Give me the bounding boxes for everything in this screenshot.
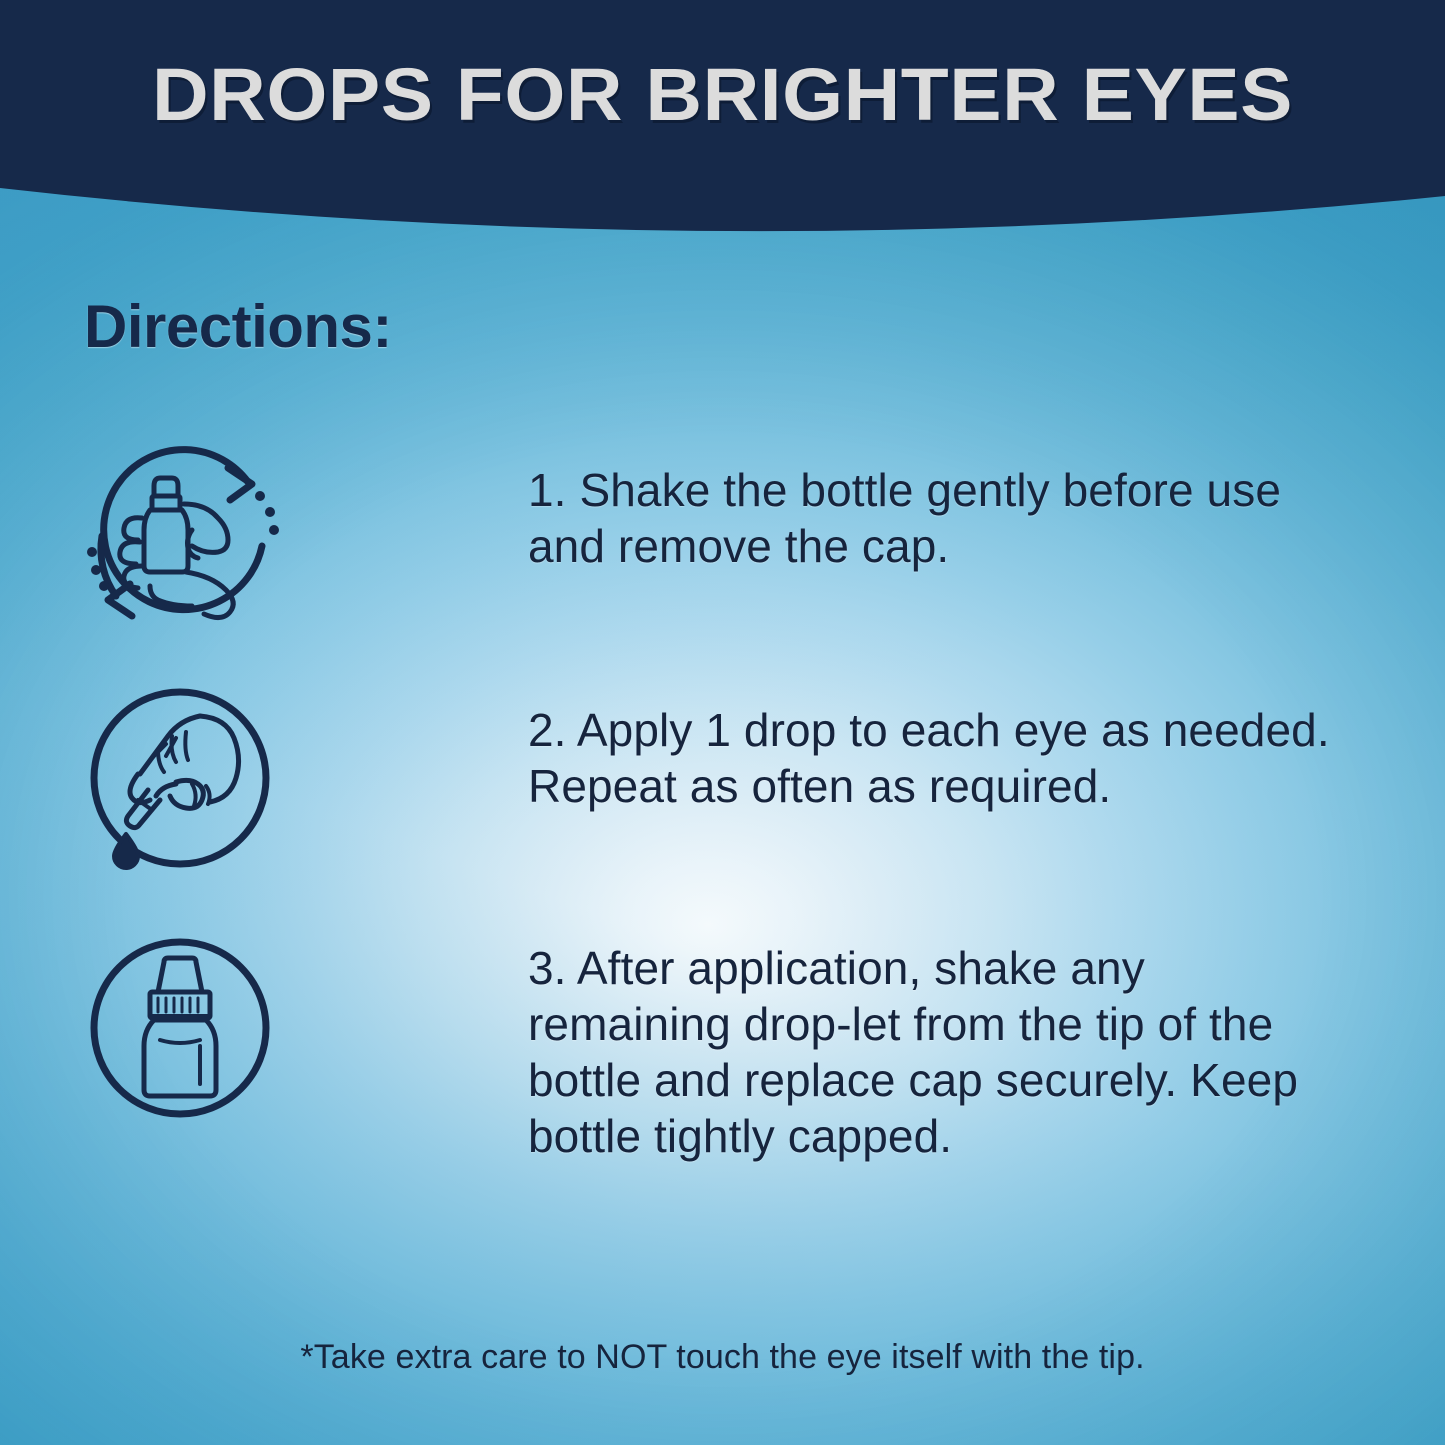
direction-step-2: 2. Apply 1 drop to each eye as needed. R… bbox=[80, 678, 1340, 878]
capped-bottle-icon bbox=[80, 928, 280, 1128]
direction-step-1-text: 1. Shake the bottle gently before use an… bbox=[280, 438, 1320, 574]
directions-step-list: 1. Shake the bottle gently before use an… bbox=[0, 0, 1445, 1445]
squeeze-drop-icon bbox=[80, 678, 280, 878]
direction-step-3: 3. After application, shake any remainin… bbox=[80, 928, 1340, 1164]
footnote-text: *Take extra care to NOT touch the eye it… bbox=[0, 1338, 1445, 1377]
product-instruction-panel: DROPS FOR BRIGHTER EYES Directions: bbox=[0, 0, 1445, 1445]
direction-step-1: 1. Shake the bottle gently before use an… bbox=[80, 438, 1320, 638]
direction-step-2-text: 2. Apply 1 drop to each eye as needed. R… bbox=[280, 678, 1340, 814]
shake-bottle-icon bbox=[80, 438, 280, 638]
direction-step-3-text: 3. After application, shake any remainin… bbox=[280, 928, 1340, 1164]
